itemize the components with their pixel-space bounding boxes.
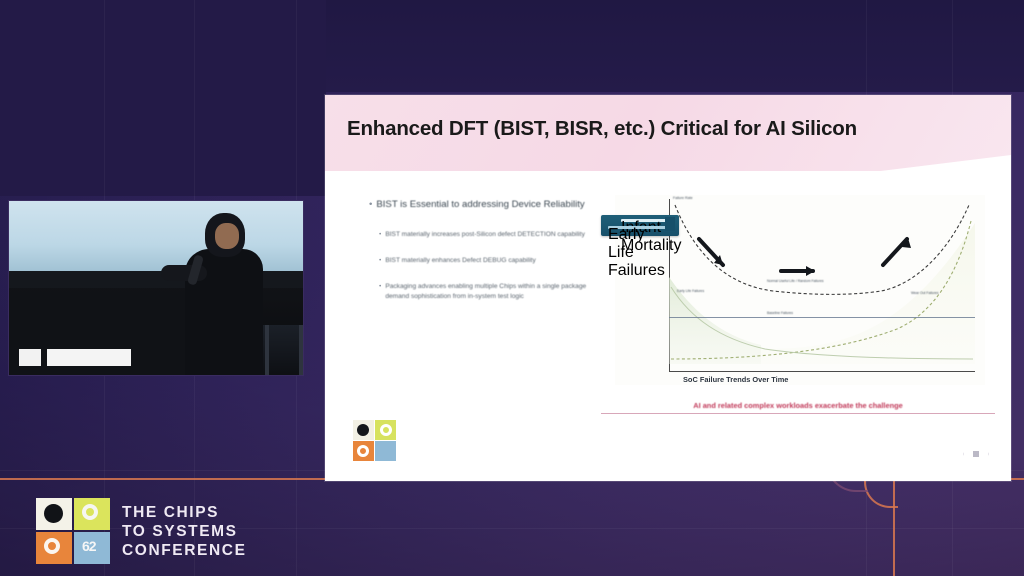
video-rail-post-right [299, 325, 303, 376]
dac-edition-number: 62 [82, 538, 96, 554]
arrow-right-head [806, 266, 815, 276]
chart-trend-arrows [615, 195, 985, 385]
video-rail-post-mid [265, 325, 269, 376]
bullet-sub-3: • Packaging advances enabling multiple C… [369, 282, 604, 302]
logo-ring-d [357, 424, 369, 436]
bullet-text: BIST materially increases post-Silicon d… [385, 230, 585, 240]
conference-wordmark: THE CHIPS TO SYSTEMS CONFERENCE [122, 504, 247, 561]
lower-third-badge [19, 349, 41, 366]
dac-logo-mark: 62 [36, 498, 112, 566]
dac-ring-d [44, 504, 63, 523]
bullet-sub-1: • BIST materially increases post-Silicon… [369, 230, 604, 240]
screen-root: Enhanced DFT (BIST, BISR, etc.) Critical… [0, 0, 1024, 576]
dac-ring-a [82, 504, 98, 520]
slide-footer-note: AI and related complex workloads exacerb… [601, 401, 995, 410]
slide-footer-underline [601, 413, 995, 414]
conference-line-3: CONFERENCE [122, 542, 247, 560]
slide-title: Enhanced DFT (BIST, BISR, etc.) Critical… [347, 117, 997, 141]
logo-quadrant-62 [375, 441, 396, 461]
speaker-video-feed[interactable] [8, 200, 304, 376]
dac-ring-c [44, 538, 60, 554]
bullet-text: Packaging advances enabling multiple Chi… [385, 282, 604, 302]
slide-brand-logo [353, 420, 397, 462]
conference-logo: 62 THE CHIPS TO SYSTEMS CONFERENCE [36, 496, 288, 568]
speaker-face [215, 223, 239, 249]
bullet-sub-2: • BIST materially enhances Defect DEBUG … [369, 256, 604, 266]
logo-ring-a [380, 424, 392, 436]
hexagon-center-dot-icon [973, 451, 979, 457]
bullet-main: • BIST is Essential to addressing Device… [369, 199, 604, 212]
bathtub-curve-chart: Failure Rate Infant Mortality Early Life… [615, 195, 985, 385]
lower-third-banner [47, 349, 131, 366]
bullet-marker-icon: • [379, 282, 381, 302]
slide-bullet-list: • BIST is Essential to addressing Device… [369, 199, 604, 318]
bullet-text: BIST materially enhances Defect DEBUG ca… [385, 256, 536, 266]
conference-line-2: TO SYSTEMS [122, 523, 247, 541]
bullet-marker-icon: • [379, 256, 381, 266]
bullet-marker-icon: • [379, 230, 381, 240]
logo-ring-c [357, 445, 369, 457]
conference-line-1: THE CHIPS [122, 504, 247, 522]
background-left-panel [0, 0, 326, 196]
chart-caption: SoC Failure Trends Over Time [683, 375, 788, 384]
slide-corner-mark [963, 441, 989, 467]
presentation-slide[interactable]: Enhanced DFT (BIST, BISR, etc.) Critical… [325, 95, 1011, 481]
bullet-text: BIST is Essential to addressing Device R… [376, 199, 584, 212]
bullet-marker-icon: • [369, 199, 372, 212]
arrow-up-right-line [883, 239, 907, 265]
